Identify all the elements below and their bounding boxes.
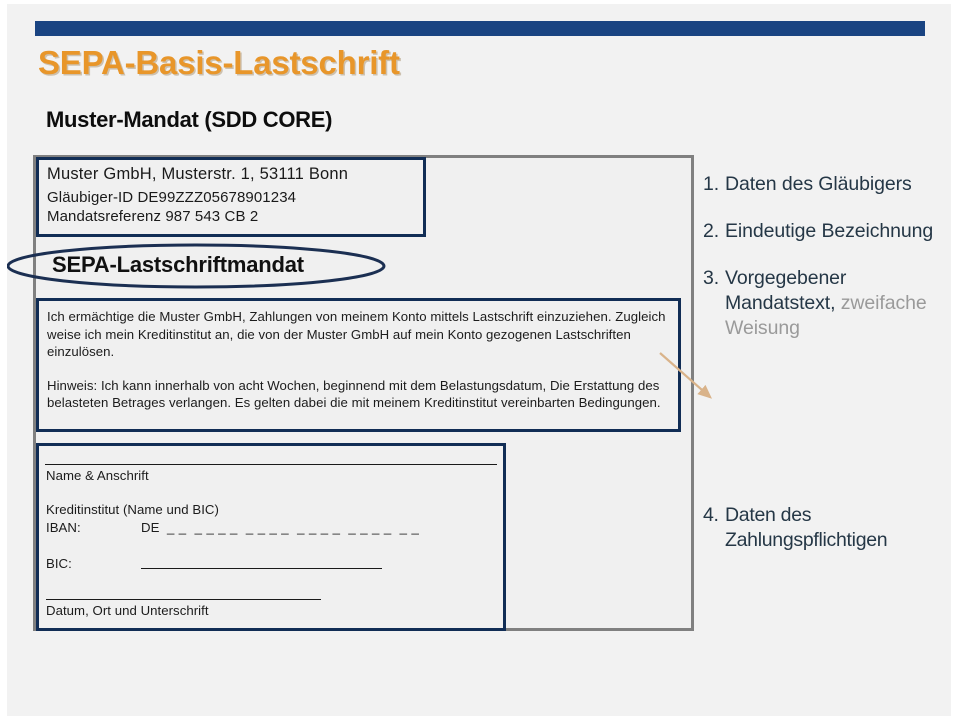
slide-footer: Nom 15 Raiffeisenbank Beilngries eG bbox=[0, 650, 960, 720]
bank-name-bic-label: Kreditinstitut (Name und BIC) bbox=[46, 502, 219, 517]
annotation-text-3: Vorgegebener Mandatstext, zweifache Weis… bbox=[725, 266, 953, 341]
annotation-number-2: 2. bbox=[703, 219, 725, 244]
debtor-data-box: Name & Anschrift Kreditinstitut (Name un… bbox=[36, 443, 506, 631]
mandate-reference: Mandatsreferenz 987 543 CB 2 bbox=[47, 208, 423, 225]
annotation-text-1: Daten des Gläubigers bbox=[725, 172, 953, 197]
callout-arrow-icon bbox=[650, 340, 730, 415]
annotation-text-3-main: Vorgegebener Mandatstext, bbox=[725, 267, 846, 314]
annotation-item-4: 4. Daten des Zahlungspflichtigen bbox=[703, 503, 953, 553]
creditor-name-address: Muster GmbH, Musterstr. 1, 53111 Bonn bbox=[47, 165, 423, 184]
mandate-paragraph-notice: Hinweis: Ich kann innerhalb von acht Woc… bbox=[47, 377, 670, 412]
name-address-label: Name & Anschrift bbox=[46, 468, 149, 483]
annotation-item-1: 1. Daten des Gläubigers bbox=[703, 172, 953, 197]
page-subtitle: Muster-Mandat (SDD CORE) bbox=[46, 107, 332, 133]
name-address-rule bbox=[45, 464, 497, 465]
creditor-data-box: Muster GmbH, Musterstr. 1, 53111 Bonn Gl… bbox=[36, 157, 426, 237]
iban-blank-fields: _ _ _ _ _ _ _ _ _ _ _ _ _ _ _ _ _ _ _ _ bbox=[167, 520, 419, 535]
bic-rule bbox=[141, 568, 382, 569]
mandate-text-box: Ich ermächtige die Muster GmbH, Zahlunge… bbox=[36, 298, 681, 432]
header-accent-bar bbox=[35, 21, 925, 36]
iban-country-code: DE bbox=[141, 520, 159, 535]
annotation-number-3: 3. bbox=[703, 266, 725, 291]
bic-label: BIC: bbox=[46, 556, 72, 571]
mandate-heading-group: SEPA-Lastschriftmandat bbox=[4, 242, 388, 290]
annotation-number-1: 1. bbox=[703, 172, 725, 197]
creditor-id: Gläubiger-ID DE99ZZZ05678901234 bbox=[47, 189, 423, 206]
mandate-heading: SEPA-Lastschriftmandat bbox=[52, 252, 304, 278]
mandate-paragraph-authorisation: Ich ermächtige die Muster GmbH, Zahlunge… bbox=[47, 308, 670, 361]
iban-label: IBAN: bbox=[46, 520, 81, 535]
annotation-item-2: 2. Eindeutige Bezeichnung bbox=[703, 219, 953, 244]
annotation-number-4: 4. bbox=[703, 503, 725, 528]
page-title: SEPA-Basis-Lastschrift bbox=[38, 44, 400, 82]
annotation-item-3: 3. Vorgegebener Mandatstext, zweifache W… bbox=[703, 266, 953, 341]
signature-rule bbox=[46, 599, 321, 600]
annotation-text-2: Eindeutige Bezeichnung bbox=[725, 219, 953, 244]
signature-label: Datum, Ort und Unterschrift bbox=[46, 603, 209, 618]
annotation-list: 1. Daten des Gläubigers 2. Eindeutige Be… bbox=[703, 172, 953, 341]
annotation-text-4: Daten des Zahlungspflichtigen bbox=[725, 503, 953, 553]
slide-canvas: SEPA-Basis-Lastschrift Muster-Mandat (SD… bbox=[0, 0, 960, 720]
